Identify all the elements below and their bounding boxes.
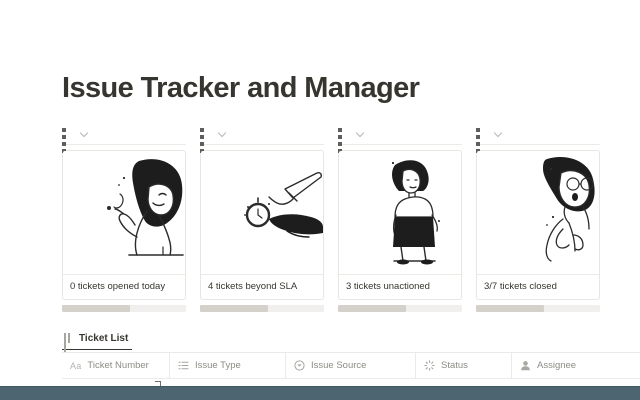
multi-select-list-icon <box>178 360 189 371</box>
card-horizontal-scrollbar[interactable] <box>338 305 462 312</box>
chevron-down-icon[interactable] <box>494 129 503 138</box>
person-icon <box>520 360 531 371</box>
grid-view-icon[interactable] <box>338 128 349 139</box>
text-aa-icon: Aa <box>70 361 81 371</box>
card-column: 0 tickets opened today <box>62 124 186 312</box>
table-view-icon <box>64 333 73 343</box>
card-label: 0 tickets opened today <box>63 274 185 299</box>
card-label: 3 tickets unactioned <box>339 274 461 299</box>
column-header-label: Issue Source <box>311 360 366 371</box>
card-column: 3/7 tickets closed <box>476 124 600 312</box>
view-tabbar: Ticket List <box>62 330 640 350</box>
column-header-label: Assignee <box>537 360 576 371</box>
gallery-card[interactable]: 3 tickets unactioned <box>338 150 462 300</box>
standing-woman-illustration <box>339 151 461 274</box>
hand-with-pocket-watch-illustration <box>201 151 323 274</box>
bottom-bar <box>0 387 640 400</box>
divider <box>476 144 600 145</box>
card-view-header[interactable] <box>200 124 324 144</box>
page-title: Issue Tracker and Manager <box>62 72 419 105</box>
column-header-label: Ticket Number <box>87 360 148 371</box>
card-column: 4 tickets beyond SLA <box>200 124 324 312</box>
gallery-card[interactable]: 0 tickets opened today <box>62 150 186 300</box>
column-header-ticket-number[interactable]: Aa Ticket Number <box>62 353 170 378</box>
tab-ticket-list[interactable]: Ticket List <box>62 333 132 350</box>
card-label: 3/7 tickets closed <box>477 274 599 299</box>
chevron-down-icon[interactable] <box>80 129 89 138</box>
card-view-header[interactable] <box>476 124 600 144</box>
chevron-down-icon[interactable] <box>356 129 365 138</box>
select-circle-icon <box>294 360 305 371</box>
grid-view-icon[interactable] <box>62 128 73 139</box>
card-view-header[interactable] <box>338 124 462 144</box>
divider <box>200 144 324 145</box>
gallery-card[interactable]: 4 tickets beyond SLA <box>200 150 324 300</box>
card-horizontal-scrollbar[interactable] <box>200 305 324 312</box>
card-column: 3 tickets unactioned <box>338 124 462 312</box>
card-view-header[interactable] <box>62 124 186 144</box>
chevron-down-icon[interactable] <box>218 129 227 138</box>
gallery-card[interactable]: 3/7 tickets closed <box>476 150 600 300</box>
divider <box>338 144 462 145</box>
divider <box>62 144 186 145</box>
person-holding-head-illustration <box>63 151 185 274</box>
card-horizontal-scrollbar[interactable] <box>62 305 186 312</box>
status-spinner-icon <box>424 360 435 371</box>
column-header-issue-type[interactable]: Issue Type <box>170 353 286 378</box>
card-horizontal-scrollbar[interactable] <box>476 305 600 312</box>
column-header-assignee[interactable]: Assignee <box>512 353 640 378</box>
linked-view-cards: 0 tickets opened today <box>62 124 640 312</box>
column-header-issue-source[interactable]: Issue Source <box>286 353 416 378</box>
column-header-label: Issue Type <box>195 360 241 371</box>
woman-with-glasses-illustration <box>477 151 599 274</box>
grid-view-icon[interactable] <box>200 128 211 139</box>
grid-view-icon[interactable] <box>476 128 487 139</box>
app-page: Issue Tracker and Manager <box>0 0 640 400</box>
table-header-row: Aa Ticket Number Issue Type Issue Source <box>62 352 640 379</box>
column-header-label: Status <box>441 360 468 371</box>
card-label: 4 tickets beyond SLA <box>201 274 323 299</box>
tab-label: Ticket List <box>79 333 128 344</box>
column-header-status[interactable]: Status <box>416 353 512 378</box>
